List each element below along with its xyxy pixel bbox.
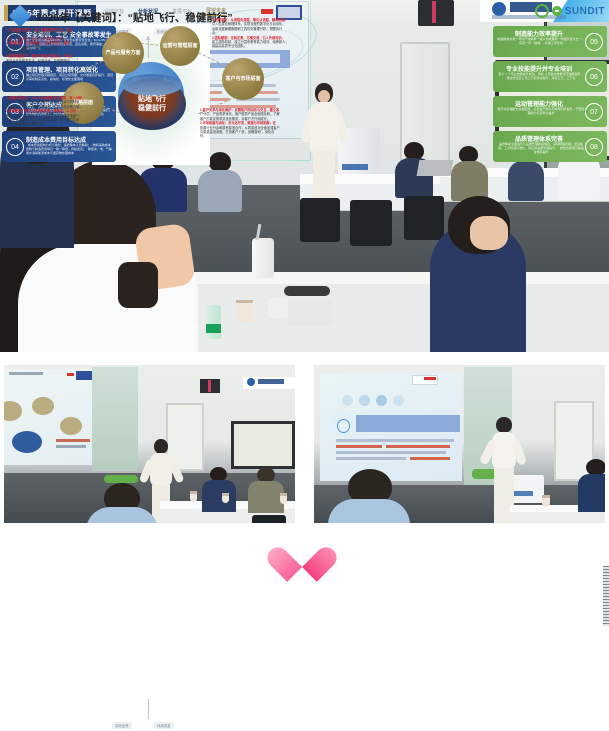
- card-subtitle: · 成本费用结构分析与细化，提质降本人员精简；· 物料采购成本控制与制造费用每月…: [26, 143, 113, 155]
- collage-page: 2025年重点展开课题 业绩达标 分析状况 发展平台 展望未来 SUNDIT 分…: [0, 0, 609, 731]
- card-number: 02: [6, 68, 24, 86]
- wall-speaker: [418, 0, 454, 26]
- card-subtitle: 确立项目管理流程规范，项目立项周期、交付准度同步提升，项目评审机制完善化，模块化…: [26, 73, 113, 81]
- topic-card-04[interactable]: 04 制造成本费用目标达成 · 成本费用结构分析与细化，提质降本人员精简；· 物…: [2, 131, 116, 162]
- arrow-up-icon: [148, 36, 149, 58]
- card-number: 04: [6, 138, 24, 156]
- page-edge-decoration: [603, 566, 609, 626]
